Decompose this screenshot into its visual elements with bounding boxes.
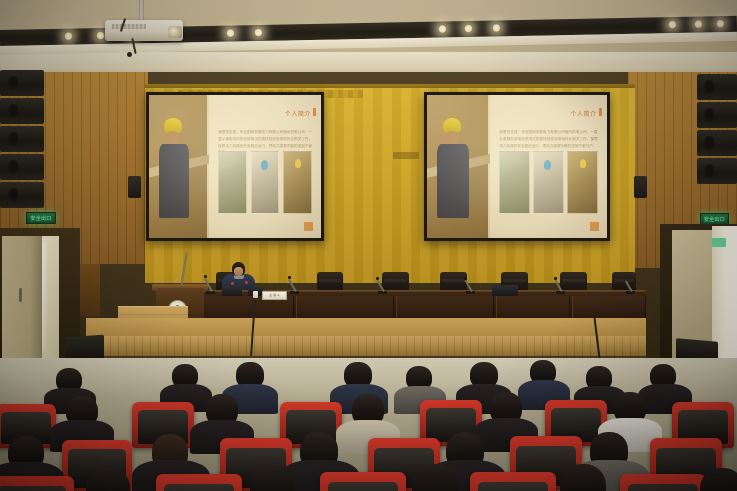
worker-torso (159, 144, 189, 218)
right-screen-surface: 个人简介 我是张志成，来自国网安徽电力有限公司宿州供电公司，一直从事服务用电检修… (427, 95, 607, 238)
microphone-head-icon (288, 276, 291, 279)
speaker-module (697, 158, 737, 184)
microphone-head-icon (376, 277, 379, 280)
curtain-logo-mark (393, 152, 419, 159)
audience-seat[interactable] (156, 474, 242, 491)
door-handle-icon[interactable] (19, 288, 22, 302)
seat-back (628, 484, 699, 491)
laptop-far-right[interactable] (492, 285, 518, 296)
exit-sign-left: 安全出口 (26, 212, 56, 224)
slide-paragraph-right: 我是张志成，来自国网安徽电力有限公司宿州供电公司，一直从事服务用电检修测试的现场… (499, 129, 597, 149)
slide-thumbnail-1 (499, 151, 529, 214)
door-left-panel[interactable] (2, 236, 42, 368)
exit-sign-right-label: 安全出口 (704, 216, 725, 223)
projector-lens-icon (168, 26, 182, 38)
microphone-head-icon (464, 277, 467, 280)
stage-platform-face (86, 336, 646, 358)
projector-vent (112, 24, 146, 29)
speaker-module (0, 70, 44, 96)
slide-hero-photo (427, 95, 488, 238)
downlight (96, 31, 105, 40)
seat-back (0, 486, 66, 491)
table-front-panel (572, 296, 646, 320)
worker-torso (437, 144, 469, 218)
left-projection-screen[interactable]: 个人简介 我是张志成，来自国网安徽电力有限公司宿州供电公司，一直从事服务用电检修… (146, 92, 324, 241)
speaker-module (0, 154, 44, 180)
table-front-panel (396, 296, 494, 320)
slide-footer-mark (304, 222, 313, 231)
water-cup[interactable] (253, 291, 258, 298)
downlight (694, 20, 703, 29)
slide-thumbnail-1 (218, 151, 247, 214)
slide-body-panel: 个人简介 我是张志成，来自国网安徽电力有限公司宿州供电公司，一直从事服务用电检修… (490, 95, 607, 238)
slide-body-panel: 个人简介 我是张志成，来自国网安徽电力有限公司宿州供电公司，一直从事服务用电检修… (209, 95, 321, 238)
audience-seat[interactable] (620, 474, 706, 491)
laptop-left[interactable] (222, 286, 242, 296)
right-projection-screen[interactable]: 个人简介 我是张志成，来自国网安徽电力有限公司宿州供电公司，一直从事服务用电检修… (424, 92, 610, 241)
nameplate: 主 讲 人 (262, 291, 287, 300)
line-array-speaker-right (697, 74, 737, 204)
left-screen-surface: 个人简介 我是张志成，来自国网安徽电力有限公司宿州供电公司，一直从事服务用电检修… (149, 95, 321, 238)
slide-thumbnail-2 (533, 151, 563, 214)
projector-mount (139, 0, 144, 22)
slide-thumbnail-row (499, 151, 597, 214)
speaker-module (697, 130, 737, 156)
slide-title-accent (313, 108, 316, 116)
slide-thumbnail-2 (251, 151, 280, 214)
auditorium-scene: 安全出口 安全出口 个人简介 我是张志成，来自国网安徽电力有限公司宿州供电公司，… (0, 0, 737, 491)
slide-title-left: 个人简介 (285, 109, 311, 118)
line-array-speaker-left (0, 70, 44, 222)
slide-hero-photo (149, 95, 207, 238)
slide-thumbnail-3 (283, 151, 312, 214)
speaker-module (0, 182, 44, 208)
stage-platform-top (86, 318, 646, 338)
slide-footer-mark (590, 222, 599, 231)
seat-back (478, 482, 549, 491)
seat-back (164, 484, 235, 491)
microphone-head-icon (204, 275, 207, 278)
audience-seat[interactable] (0, 476, 74, 491)
downlight (716, 19, 725, 28)
microphone-head-icon (554, 277, 557, 280)
speaker-module (697, 102, 737, 128)
downlight (464, 24, 473, 33)
lapel-badge-icon (231, 282, 234, 285)
exit-marker-icon (712, 238, 726, 247)
audience-seating (0, 360, 737, 491)
speaker-module (0, 98, 44, 124)
lapel-badge-icon (245, 281, 248, 284)
slide-title-right: 个人简介 (570, 109, 596, 118)
seat-back (328, 482, 399, 491)
downlight (492, 23, 501, 32)
slide-thumbnail-3 (567, 151, 597, 214)
audience-seat[interactable] (320, 472, 406, 491)
speaker-module (0, 126, 44, 152)
table-front-panel (296, 296, 394, 320)
wall-speaker-left (128, 176, 141, 198)
slide-title-accent (599, 108, 602, 116)
table-front-panel (496, 296, 570, 320)
downlight (64, 32, 73, 41)
projector-cable-end (127, 52, 132, 57)
audience-seat[interactable] (470, 472, 556, 491)
downlight (254, 28, 263, 37)
wall-speaker-right (634, 176, 647, 198)
downlight (668, 20, 677, 29)
slide-thumbnail-row (218, 151, 312, 214)
speaker-person-face (234, 267, 243, 276)
exit-sign-left-label: 安全出口 (30, 215, 51, 222)
speaker-module (697, 74, 737, 100)
downlight (226, 28, 235, 37)
downlight (438, 24, 447, 33)
